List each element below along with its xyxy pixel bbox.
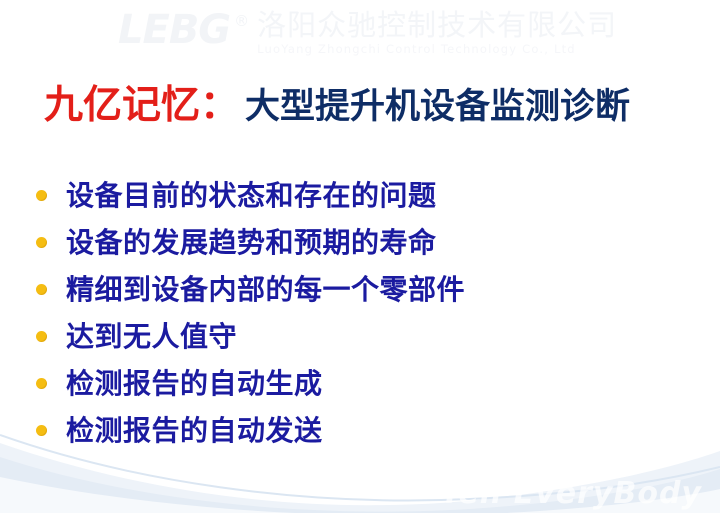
company-logo-mark: LEBG	[118, 8, 230, 52]
company-name-cn: 洛阳众驰控制技术有限公司	[257, 9, 617, 41]
list-item: 精细到设备内部的每一个零部件	[36, 266, 696, 313]
list-item-label: 检测报告的自动生成	[66, 367, 323, 401]
registered-trademark-icon: ®	[234, 11, 249, 31]
list-item: 检测报告的自动生成	[36, 360, 696, 407]
list-item-label: 设备目前的状态和存在的问题	[66, 179, 437, 213]
bullet-dot-icon	[36, 190, 47, 201]
list-item-label: 检测报告的自动发送	[66, 414, 323, 448]
wave-shape-mid	[0, 457, 720, 513]
bullet-dot-icon	[36, 284, 47, 295]
list-item: 设备目前的状态和存在的问题	[36, 172, 696, 219]
bullet-dot-icon	[36, 331, 47, 342]
footer-watermark-text: Tell EveryBody	[441, 476, 702, 511]
page-title: 九亿记忆： 大型提升机设备监测诊断	[44, 82, 630, 130]
wave-shape-front	[0, 477, 720, 513]
slide-canvas: LEBG ® 洛阳众驰控制技术有限公司 LuoYang Zhongchi Con…	[0, 0, 720, 513]
page-title-main: 大型提升机设备监测诊断	[245, 84, 630, 130]
list-item-label: 设备的发展趋势和预期的寿命	[66, 226, 437, 260]
bullet-dot-icon	[36, 425, 47, 436]
list-item-label: 精细到设备内部的每一个零部件	[66, 273, 465, 307]
company-name-block: 洛阳众驰控制技术有限公司 LuoYang Zhongchi Control Te…	[257, 9, 617, 56]
list-item: 设备的发展趋势和预期的寿命	[36, 219, 696, 266]
header-watermark-inner: LEBG ® 洛阳众驰控制技术有限公司 LuoYang Zhongchi Con…	[118, 8, 617, 56]
list-item: 达到无人值守	[36, 313, 696, 360]
bullet-list: 设备目前的状态和存在的问题 设备的发展趋势和预期的寿命 精细到设备内部的每一个零…	[36, 172, 696, 454]
list-item-label: 达到无人值守	[66, 320, 237, 354]
header-watermark-band: LEBG ® 洛阳众驰控制技术有限公司 LuoYang Zhongchi Con…	[0, 0, 720, 66]
bullet-dot-icon	[36, 237, 47, 248]
company-name-en: LuoYang Zhongchi Control Technology Co.,…	[257, 42, 617, 56]
bullet-dot-icon	[36, 378, 47, 389]
list-item: 检测报告的自动发送	[36, 407, 696, 454]
page-title-accent: 九亿记忆：	[44, 82, 239, 128]
